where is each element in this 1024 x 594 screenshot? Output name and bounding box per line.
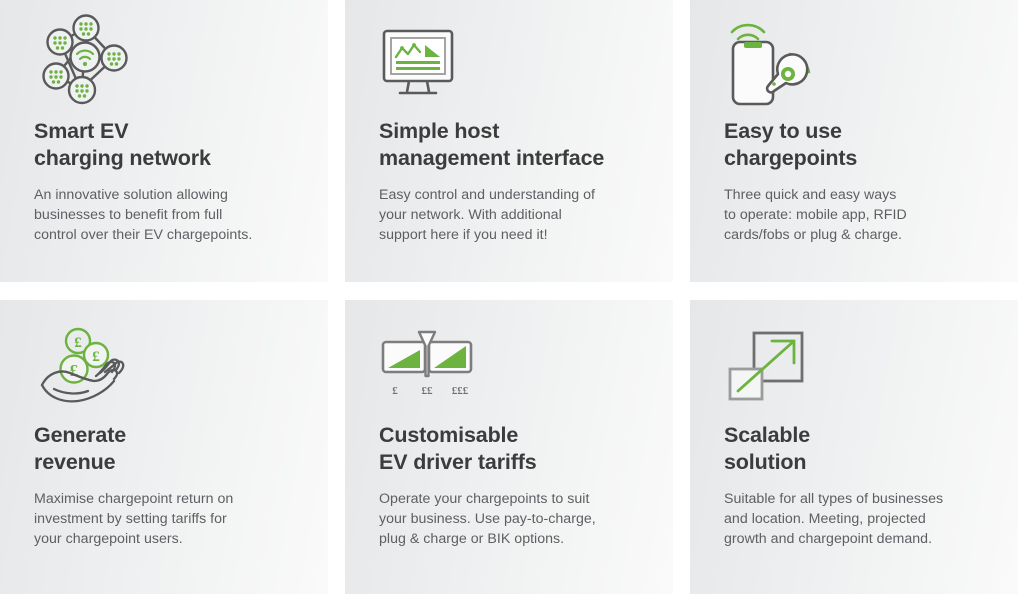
card-title: Simple host management interface (379, 118, 639, 172)
scale-expand-arrow-icon-wrap (724, 300, 984, 422)
svg-text:£: £ (70, 361, 79, 380)
hand-with-coins-icon-wrap: £ £ £ (34, 300, 294, 422)
card-description: Suitable for all types of businesses and… (724, 490, 984, 549)
column-gutter-edge (1018, 0, 1024, 282)
phone-rfid-fob-icon-wrap (724, 0, 984, 118)
feature-card-grid: Smart EV charging network An innovative … (0, 0, 1024, 594)
column-gutter (673, 300, 690, 594)
column-gutter-edge (1018, 300, 1024, 594)
desktop-monitor-chart-icon (379, 23, 457, 101)
column-gutter (673, 0, 690, 282)
card-description: Operate your chargepoints to suit your b… (379, 490, 639, 549)
column-gutter (328, 0, 345, 282)
card-description: Easy control and understanding of your n… (379, 186, 639, 245)
tariff-slider-icon: £ ££ £££ (379, 324, 475, 406)
network-nodes-icon-wrap (34, 0, 294, 118)
card-title: Generate revenue (34, 422, 294, 476)
card-title: Smart EV charging network (34, 118, 294, 172)
card-description: An innovative solution allowing business… (34, 186, 294, 245)
feature-card-simple-host-management-interface[interactable]: Simple host management interface Easy co… (345, 0, 673, 282)
tariff-label-tier-3: £££ (452, 385, 469, 397)
scale-expand-arrow-icon (724, 325, 808, 405)
desktop-monitor-chart-icon-wrap (379, 0, 639, 118)
svg-text:£: £ (92, 349, 100, 365)
card-description: Maximise chargepoint return on investmen… (34, 490, 294, 549)
tariff-label-tier-2: ££ (422, 385, 434, 397)
column-gutter (328, 300, 345, 594)
row-gutter (0, 282, 1024, 300)
card-title: Easy to use chargepoints (724, 118, 984, 172)
feature-card-smart-ev-charging-network[interactable]: Smart EV charging network An innovative … (0, 0, 328, 282)
feature-card-customisable-ev-driver-tariffs[interactable]: £ ££ £££ Customisable EV driver tariffs … (345, 300, 673, 594)
card-title: Customisable EV driver tariffs (379, 422, 639, 476)
svg-text:£: £ (74, 335, 82, 351)
hand-with-coins-icon: £ £ £ (34, 323, 134, 407)
feature-card-scalable-solution[interactable]: Scalable solution Suitable for all types… (690, 300, 1018, 594)
card-description: Three quick and easy ways to operate: mo… (724, 186, 984, 245)
feature-card-generate-revenue[interactable]: £ £ £ Genera (0, 300, 328, 594)
phone-rfid-fob-icon (724, 12, 816, 112)
tariff-slider-icon-wrap: £ ££ £££ (379, 300, 639, 422)
network-nodes-icon (34, 14, 138, 110)
card-title: Scalable solution (724, 422, 984, 476)
feature-card-easy-to-use-chargepoints[interactable]: Easy to use chargepoints Three quick and… (690, 0, 1018, 282)
tariff-label-tier-1: £ (392, 385, 398, 397)
